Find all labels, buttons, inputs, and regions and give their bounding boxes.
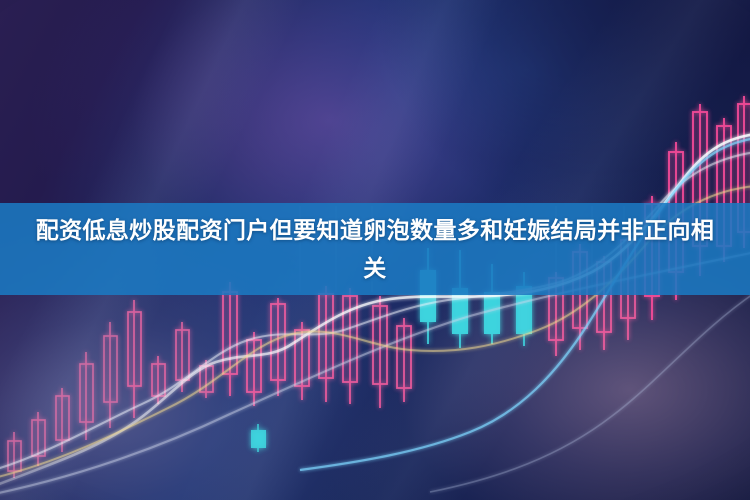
candle-group-left-mid bbox=[128, 300, 213, 418]
banner-image: 配资低息炒股配资门户但要知道卵泡数量多和妊娠结局并非正向相关 bbox=[0, 0, 750, 500]
candle-group-left bbox=[8, 322, 117, 478]
headline-text: 配资低息炒股配资门户但要知道卵泡数量多和妊娠结局并非正向相关 bbox=[25, 211, 725, 287]
ma-line-white-2 bbox=[0, 152, 750, 470]
headline-banner: 配资低息炒股配资门户但要知道卵泡数量多和妊娠结局并非正向相关 bbox=[0, 203, 750, 295]
ma-line-white bbox=[0, 134, 750, 486]
